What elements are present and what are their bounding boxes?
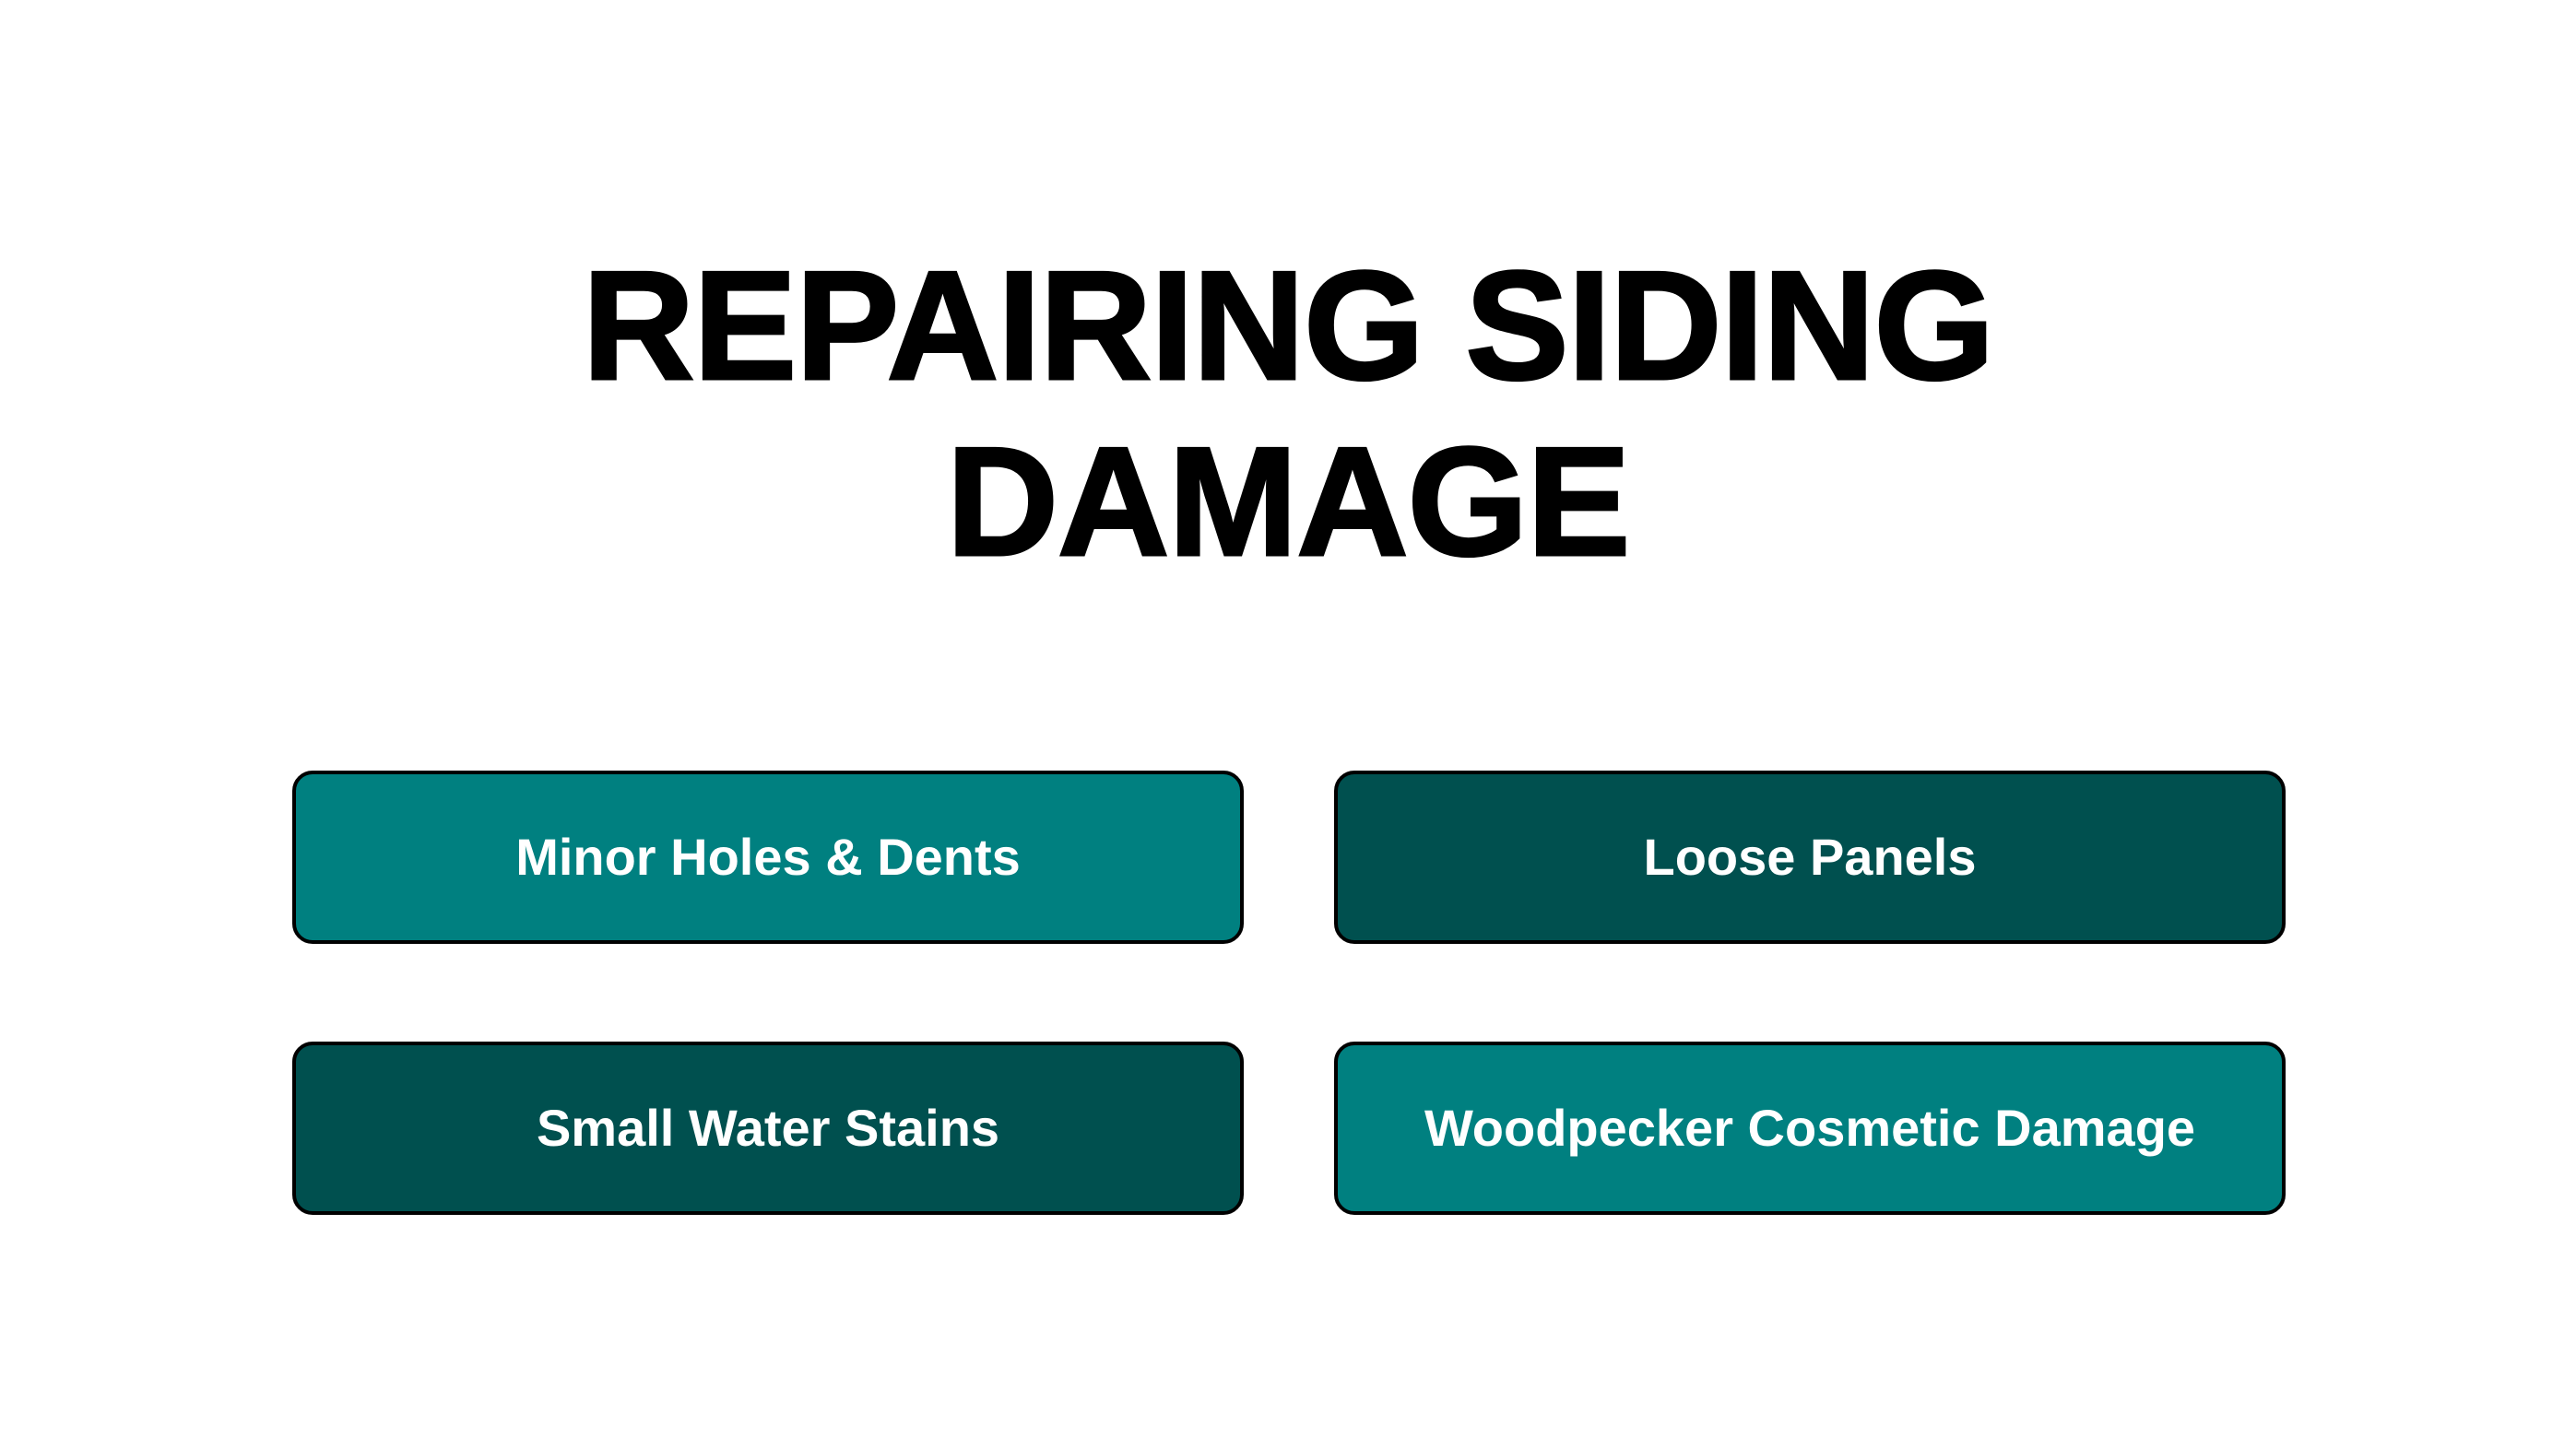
option-label: Small Water Stains: [537, 1100, 999, 1157]
page-title-block: REPAIRING SIDING DAMAGE: [0, 238, 2576, 590]
options-grid: Minor Holes & Dents Loose Panels Small W…: [292, 771, 2286, 1215]
option-button-minor-holes-and-dents[interactable]: Minor Holes & Dents: [292, 771, 1244, 944]
option-button-small-water-stains[interactable]: Small Water Stains: [292, 1042, 1244, 1215]
option-label: Minor Holes & Dents: [515, 829, 1021, 886]
option-button-loose-panels[interactable]: Loose Panels: [1334, 771, 2286, 944]
option-button-woodpecker-cosmetic-damage[interactable]: Woodpecker Cosmetic Damage: [1334, 1042, 2286, 1215]
option-label: Loose Panels: [1643, 829, 1976, 886]
slide-canvas: REPAIRING SIDING DAMAGE Minor Holes & De…: [0, 0, 2576, 1449]
page-title: REPAIRING SIDING DAMAGE: [0, 238, 2576, 590]
option-label: Woodpecker Cosmetic Damage: [1424, 1100, 2195, 1157]
